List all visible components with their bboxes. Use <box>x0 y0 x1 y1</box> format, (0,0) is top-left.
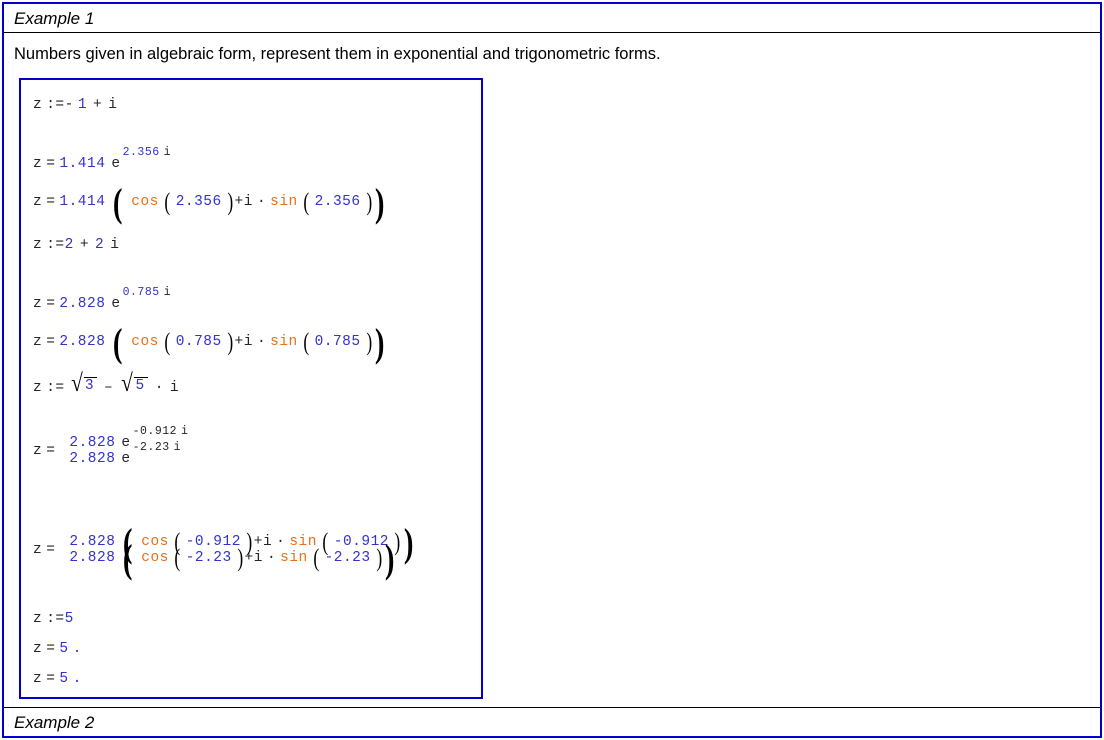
exponent-angle: -0.912 <box>133 425 177 438</box>
imaginary-unit: i <box>108 97 117 113</box>
radical-icon: √ <box>71 376 83 394</box>
sin-argument: 2.356 <box>315 194 361 210</box>
instruction-text: Numbers given in algebraic form, represe… <box>4 33 1100 65</box>
math-line-result-4b[interactable]: z=5. <box>33 664 481 694</box>
plus-operator: + <box>93 97 102 113</box>
variable-z: z <box>33 237 42 253</box>
assigned-value: 5 <box>65 611 74 627</box>
cos-argument: -0.912 <box>186 534 241 550</box>
vector-result-trigonometric: 2.828(cos(-0.912)+i·sin(-0.912)) 2.828(c… <box>57 534 415 566</box>
math-line-trigonometric-1[interactable]: z=1.414(cos(2.356)+i·sin(2.356)) <box>33 174 481 230</box>
math-line-exponential-1[interactable]: z=1.414e2.356i <box>33 120 481 174</box>
result-value: 5 <box>59 671 68 687</box>
exponent-imaginary-unit: i <box>174 441 181 454</box>
math-worksheet[interactable]: z:=-1+i z=1.414e2.356i z=1.414(cos(2.356… <box>19 78 483 699</box>
result-value: 5 <box>59 641 68 657</box>
sin-argument: -2.23 <box>325 550 371 566</box>
variable-z: z <box>33 194 42 210</box>
imaginary-unit: i <box>244 334 253 350</box>
imaginary-unit: i <box>263 534 272 550</box>
math-line-definition-2[interactable]: z:=2+2i <box>33 230 481 260</box>
modulus-value: 1.414 <box>59 156 105 172</box>
square-root-2: √5 <box>120 376 147 394</box>
cos-function: cos <box>141 550 169 566</box>
equals-operator: = <box>46 443 55 459</box>
math-line-trigonometric-3[interactable]: z= 2.828(cos(-0.912)+i·sin(-0.912)) 2.82… <box>33 496 481 604</box>
radicand-value: 3 <box>84 377 97 395</box>
assign-operator: := <box>46 380 64 396</box>
sin-function: sin <box>270 334 298 350</box>
plus-operator: + <box>254 534 263 550</box>
radicand-value: 5 <box>134 377 147 395</box>
example-1-heading: Example 1 <box>4 4 1100 33</box>
page-root: Example 1 Numbers given in algebraic for… <box>0 0 1104 740</box>
cos-function: cos <box>141 534 169 550</box>
math-line-definition-1[interactable]: z:=-1+i <box>33 90 481 120</box>
variable-z: z <box>33 380 42 396</box>
variable-z: z <box>33 641 42 657</box>
equals-operator: = <box>46 296 55 312</box>
assign-operator: := <box>46 237 64 253</box>
imaginary-unit: i <box>254 550 263 566</box>
radical-icon: √ <box>121 376 133 394</box>
math-line-definition-4[interactable]: z:=5 <box>33 604 481 634</box>
euler-e: e <box>111 296 120 312</box>
exponent-imaginary-unit: i <box>164 146 171 159</box>
cos-argument: -2.23 <box>186 550 232 566</box>
negative-sign: - <box>65 97 74 113</box>
sin-function: sin <box>270 194 298 210</box>
plus-operator: + <box>235 334 244 350</box>
equals-operator: = <box>46 334 55 350</box>
euler-e: e <box>111 156 120 172</box>
plus-operator: + <box>235 194 244 210</box>
multiply-dot: · <box>276 534 285 550</box>
cos-argument: 2.356 <box>176 194 222 210</box>
imaginary-part: 2 <box>95 237 104 253</box>
cos-function: cos <box>131 334 159 350</box>
cos-function: cos <box>131 194 159 210</box>
assign-operator: := <box>46 97 64 113</box>
multiply-dot: · <box>257 334 266 350</box>
modulus-value: 2.828 <box>59 334 105 350</box>
imaginary-unit: i <box>110 237 119 253</box>
modulus-value: 2.828 <box>69 435 115 451</box>
variable-z: z <box>33 542 42 558</box>
sin-argument: 0.785 <box>315 334 361 350</box>
minus-operator: – <box>104 380 113 396</box>
example-2-heading: Example 2 <box>4 707 1100 736</box>
modulus-value: 2.828 <box>69 534 115 550</box>
math-line-result-4a[interactable]: z=5. <box>33 634 481 664</box>
square-root-1: √3 <box>70 376 97 394</box>
real-part: 2 <box>65 237 74 253</box>
multiply-dot: · <box>267 550 276 566</box>
exponent-imaginary-unit: i <box>181 425 188 438</box>
exponent-imaginary-unit: i <box>164 286 171 299</box>
equals-operator: = <box>46 671 55 687</box>
vector-row: 2.828e-2.23i <box>57 451 186 467</box>
variable-z: z <box>33 156 42 172</box>
exponent-angle: 2.356 <box>123 146 160 159</box>
variable-z: z <box>33 611 42 627</box>
modulus-value: 2.828 <box>59 296 105 312</box>
equals-operator: = <box>46 156 55 172</box>
multiply-dot: · <box>155 380 164 396</box>
exponent-angle: 0.785 <box>123 286 160 299</box>
modulus-value: 2.828 <box>69 550 115 566</box>
exponent-angle: -2.23 <box>133 441 170 454</box>
math-line-trigonometric-2[interactable]: z=2.828(cos(0.785)+i·sin(0.785)) <box>33 314 481 370</box>
vector-row: 2.828(cos(-2.23)+i·sin(-2.23)) <box>57 550 415 566</box>
equals-operator: = <box>46 194 55 210</box>
real-part: 1 <box>78 97 87 113</box>
decimal-point: . <box>73 641 82 657</box>
example-card: Example 1 Numbers given in algebraic for… <box>2 2 1102 738</box>
variable-z: z <box>33 334 42 350</box>
modulus-value: 2.828 <box>69 451 115 467</box>
math-line-exponential-2[interactable]: z=2.828e0.785i <box>33 260 481 314</box>
euler-e: e <box>121 451 130 467</box>
equals-operator: = <box>46 641 55 657</box>
assign-operator: := <box>46 611 64 627</box>
multiply-dot: · <box>257 194 266 210</box>
variable-z: z <box>33 671 42 687</box>
plus-operator: + <box>80 237 89 253</box>
vector-result-exponential: 2.828e-0.912i 2.828e-2.23i <box>57 435 186 467</box>
variable-z: z <box>33 97 42 113</box>
imaginary-unit: i <box>170 380 179 396</box>
variable-z: z <box>33 296 42 312</box>
sin-function: sin <box>280 550 308 566</box>
math-line-exponential-3[interactable]: z= 2.828e-0.912i 2.828e-2.23i <box>33 406 481 496</box>
math-line-definition-3[interactable]: z:=√3–√5·i <box>33 370 481 406</box>
modulus-value: 1.414 <box>59 194 105 210</box>
variable-z: z <box>33 443 42 459</box>
equals-operator: = <box>46 542 55 558</box>
imaginary-unit: i <box>244 194 253 210</box>
cos-argument: 0.785 <box>176 334 222 350</box>
euler-e: e <box>121 435 130 451</box>
decimal-point: . <box>73 671 82 687</box>
